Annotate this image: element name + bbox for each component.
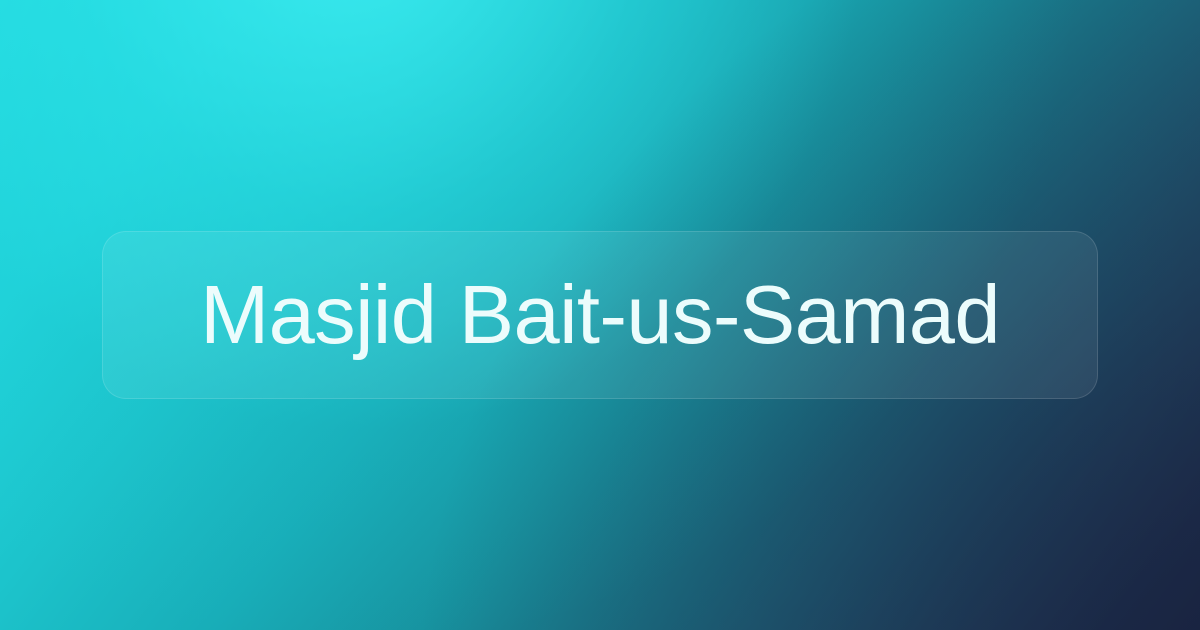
title-card: Masjid Bait-us-Samad — [102, 231, 1098, 399]
page-title: Masjid Bait-us-Samad — [200, 271, 1000, 358]
card-center-wrapper: Masjid Bait-us-Samad — [0, 0, 1200, 630]
og-image-canvas: Masjid Bait-us-Samad — [0, 0, 1200, 630]
